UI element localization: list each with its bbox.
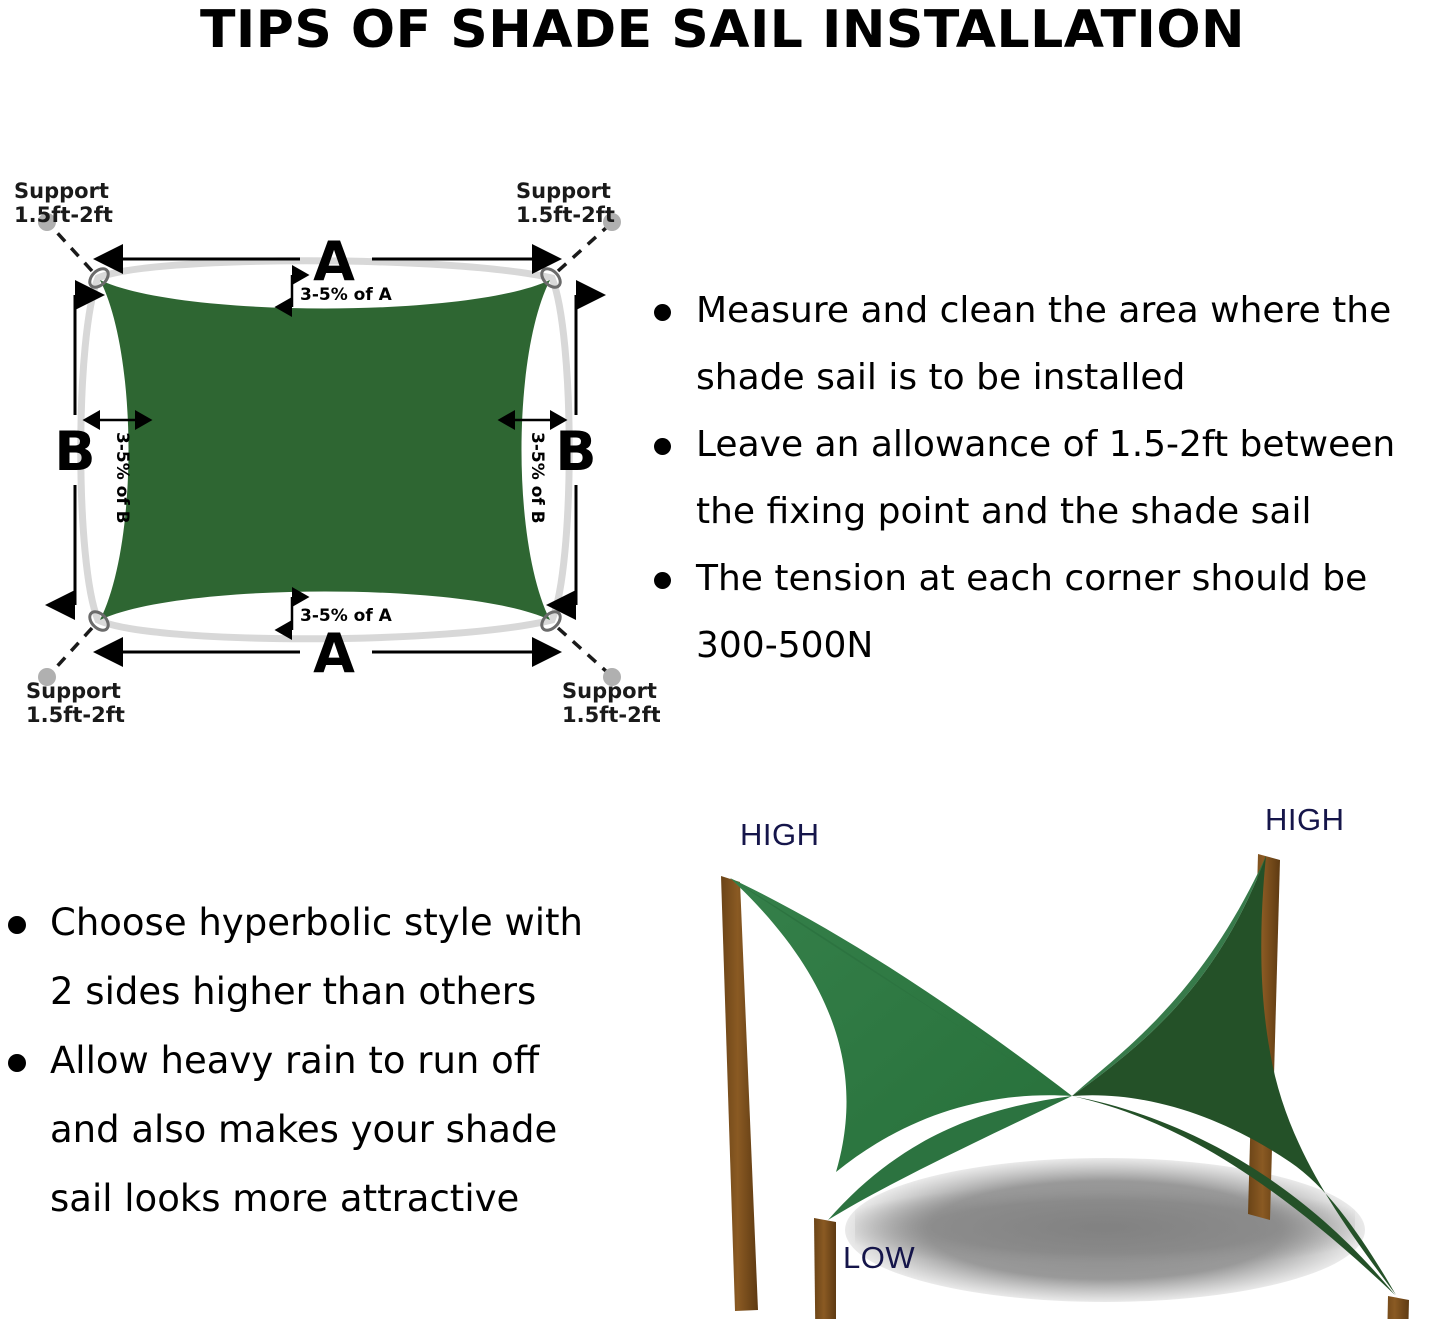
pole-front-left bbox=[814, 1218, 836, 1319]
shade-sail-shape bbox=[100, 280, 550, 620]
tip-line: shade sail is to be installed bbox=[696, 357, 1185, 398]
installation-tips-list: Measure and clean the area where the sha… bbox=[648, 277, 1445, 679]
support-label-top-left-line1: Support bbox=[14, 179, 109, 203]
rectangular-sail-diagram: A 3-5% of A A 3-5% of A B 3-5% of B bbox=[0, 150, 660, 730]
tip-line: Leave an allowance of 1.5-2ft between bbox=[696, 424, 1395, 465]
support-label-bottom-left-line2: 1.5ft-2ft bbox=[26, 703, 125, 727]
tip-line: 2 sides higher than others bbox=[50, 970, 536, 1013]
curvature-label-left: 3-5% of B bbox=[112, 432, 132, 524]
support-label-bottom-left-line1: Support bbox=[26, 679, 121, 703]
tip-line: The tension at each corner should be bbox=[696, 558, 1367, 599]
support-label-top-left-line2: 1.5ft-2ft bbox=[14, 203, 113, 227]
label-high-right: HIGH bbox=[1265, 802, 1345, 837]
tip-line: sail looks more attractive bbox=[50, 1177, 519, 1220]
hyperbolic-sail-diagram: HIGH HIGH LOW LOW bbox=[680, 790, 1445, 1319]
curvature-label-bottom: 3-5% of A bbox=[300, 606, 393, 626]
list-item: Allow heavy rain to run off and also mak… bbox=[0, 1026, 620, 1233]
list-item: Choose hyperbolic style with 2 sides hig… bbox=[0, 888, 620, 1026]
tip-line: the fixing point and the shade sail bbox=[696, 491, 1311, 532]
curvature-label-top: 3-5% of A bbox=[300, 285, 393, 305]
tip-line: 300-500N bbox=[696, 625, 873, 666]
list-item: Measure and clean the area where the sha… bbox=[648, 277, 1445, 411]
dimension-letter-bottom-a: A bbox=[313, 622, 355, 685]
tip-line: Allow heavy rain to run off bbox=[50, 1039, 539, 1082]
tip-line: Choose hyperbolic style with bbox=[50, 901, 583, 944]
tip-line: Measure and clean the area where the bbox=[696, 290, 1391, 331]
label-high-left: HIGH bbox=[740, 817, 820, 852]
dimension-letter-left-b: B bbox=[54, 420, 95, 483]
pole-front-right bbox=[1383, 1296, 1409, 1319]
page-title: TIPS OF SHADE SAIL INSTALLATION bbox=[0, 0, 1445, 60]
label-low-left: LOW bbox=[843, 1240, 915, 1275]
pole-back-left bbox=[721, 876, 758, 1311]
sail-lobe-light bbox=[730, 878, 1072, 1172]
curvature-label-right: 3-5% of B bbox=[527, 432, 547, 524]
support-label-top-right-line1: Support bbox=[516, 179, 611, 203]
dimension-letter-right-b: B bbox=[555, 420, 596, 483]
list-item: The tension at each corner should be 300… bbox=[648, 545, 1445, 679]
hyperbolic-style-tips-list: Choose hyperbolic style with 2 sides hig… bbox=[0, 888, 620, 1233]
support-label-bottom-right-line1: Support bbox=[562, 679, 657, 703]
ground-shadow-core bbox=[855, 1188, 1355, 1266]
support-label-top-right-line2: 1.5ft-2ft bbox=[516, 203, 615, 227]
list-item: Leave an allowance of 1.5-2ft between th… bbox=[648, 411, 1445, 545]
tip-line: and also makes your shade bbox=[50, 1108, 557, 1151]
dimension-letter-top-a: A bbox=[313, 230, 355, 293]
support-label-bottom-right-line2: 1.5ft-2ft bbox=[562, 703, 660, 727]
